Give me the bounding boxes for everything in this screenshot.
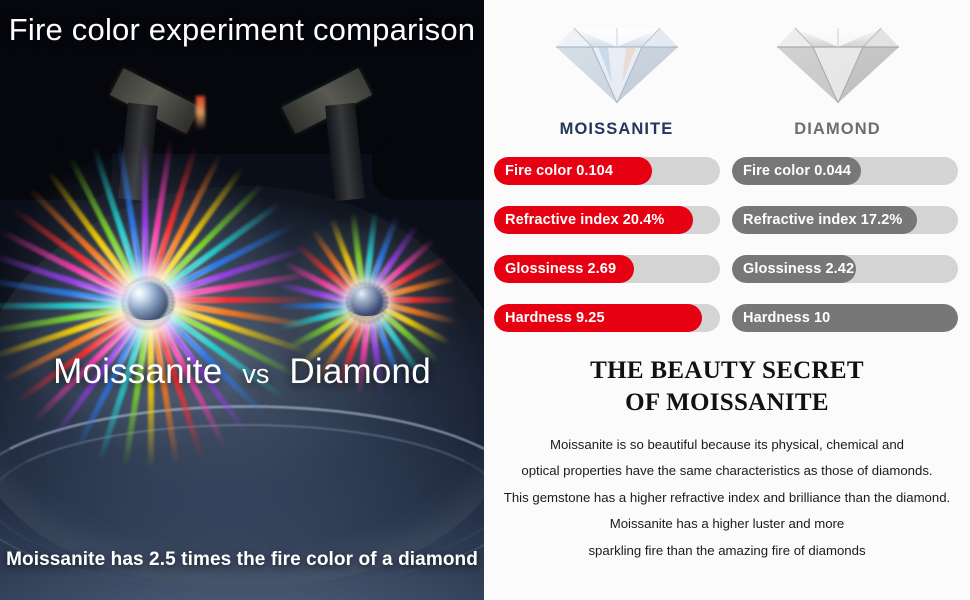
moissanite-diamond-gem-icon — [519, 14, 715, 114]
comparison-info-panel: MOISSANITE — [484, 0, 970, 600]
moissanite-fire-burst — [0, 135, 313, 465]
secret-title: THE BEAUTY SECRET OF MOISSANITE — [484, 355, 970, 418]
description-line: sparkling fire than the amazing fire of … — [496, 538, 958, 564]
bar-label: Refractive index 17.2% — [743, 212, 902, 228]
versus-right-name: Diamond — [289, 352, 430, 392]
bar-label: Glossiness 2.42 — [743, 261, 854, 277]
headline: Fire color experiment comparison — [0, 10, 484, 51]
bar-label: Hardness 9.25 — [505, 310, 605, 326]
bar-moissanite-fire-color: Fire color 0.104 — [494, 157, 720, 185]
bar-label: Hardness 10 — [743, 310, 830, 326]
secret-title-line-2: OF MOISSANITE — [484, 387, 970, 419]
bar-moissanite-refractive-index: Refractive index 20.4% — [494, 206, 720, 234]
secret-title-line-1: THE BEAUTY SECRET — [484, 355, 970, 387]
comparison-bars: Fire color 0.104 Refractive index 20.4% … — [484, 139, 970, 353]
description-line: Moissanite is so beautiful because its p… — [496, 432, 958, 458]
gem-header-row: MOISSANITE — [484, 0, 970, 139]
column-label-moissanite: MOISSANITE — [519, 120, 715, 139]
bar-moissanite-hardness: Hardness 9.25 — [494, 304, 720, 332]
light-ray — [168, 298, 244, 302]
diamond-gem-icon — [740, 14, 936, 114]
light-ray — [52, 302, 128, 306]
versus-left-name: Moissanite — [53, 352, 222, 392]
infographic-page: Fire color experiment comparison Moissan… — [0, 0, 970, 600]
description-line: Moissanite has a higher luster and more — [496, 511, 958, 537]
bar-diamond-glossiness: Glossiness 2.42 — [732, 255, 958, 283]
bar-diamond-refractive-index: Refractive index 17.2% — [732, 206, 958, 234]
description-line: optical properties have the same charact… — [496, 458, 958, 484]
photo-footer-caption: Moissanite has 2.5 times the fire color … — [0, 549, 484, 571]
bar-group-moissanite: Fire color 0.104 Refractive index 20.4% … — [494, 157, 720, 353]
bar-diamond-fire-color: Fire color 0.044 — [732, 157, 958, 185]
experiment-photo-panel: Fire color experiment comparison Moissan… — [0, 0, 484, 600]
light-spark — [196, 96, 205, 130]
bar-label: Fire color 0.104 — [505, 163, 613, 179]
light-ray — [144, 206, 148, 282]
column-moissanite: MOISSANITE — [519, 14, 715, 139]
light-ray — [383, 298, 421, 302]
light-ray — [313, 302, 351, 306]
bar-label: Refractive index 20.4% — [505, 212, 664, 228]
description-paragraph: Moissanite is so beautiful because its p… — [484, 432, 970, 564]
bar-diamond-hardness: Hardness 10 — [732, 304, 958, 332]
bar-group-diamond: Fire color 0.044 Refractive index 17.2% … — [732, 157, 958, 353]
bar-moissanite-glossiness: Glossiness 2.69 — [494, 255, 720, 283]
versus-row: Moissanite vs Diamond — [0, 352, 484, 392]
bar-label: Fire color 0.044 — [743, 163, 851, 179]
column-label-diamond: DIAMOND — [740, 120, 936, 139]
description-line: This gemstone has a higher refractive in… — [496, 485, 958, 511]
bar-label: Glossiness 2.69 — [505, 261, 616, 277]
column-diamond: DIAMOND — [740, 14, 936, 139]
versus-word: vs — [242, 359, 269, 390]
